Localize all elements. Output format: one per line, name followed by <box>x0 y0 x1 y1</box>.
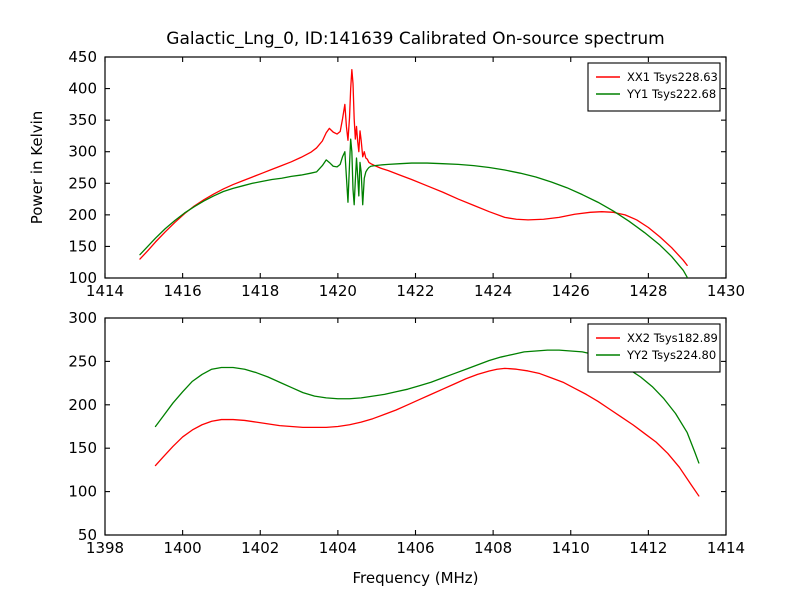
legend-label: YY1 Tsys222.68 <box>626 87 716 101</box>
y-tick-label: 250 <box>68 352 97 370</box>
y-tick-label: 250 <box>68 174 97 192</box>
bottom-spectrum-panel: 1398140014021404140614081410141214145010… <box>0 300 800 600</box>
y-tick-label: 100 <box>68 483 97 501</box>
bottom-panel-svg: 1398140014021404140614081410141214145010… <box>0 300 800 600</box>
y-tick-label: 200 <box>68 206 97 224</box>
x-tick-label: 1406 <box>396 539 434 557</box>
x-tick-label: 1418 <box>241 282 279 300</box>
x-tick-label: 1408 <box>474 539 512 557</box>
x-tick-label: 1400 <box>164 539 202 557</box>
series-line-0 <box>155 368 698 496</box>
x-tick-label: 1426 <box>552 282 590 300</box>
x-tick-label: 1428 <box>629 282 667 300</box>
x-tick-label: 1422 <box>396 282 434 300</box>
y-tick-label: 300 <box>68 143 97 161</box>
x-tick-label: 1416 <box>164 282 202 300</box>
y-tick-label: 350 <box>68 111 97 129</box>
legend-label: YY2 Tsys224.80 <box>626 348 716 362</box>
y-tick-label: 100 <box>68 269 97 287</box>
y-tick-label: 150 <box>68 439 97 457</box>
x-tick-label: 1412 <box>629 539 667 557</box>
top-spectrum-panel: Galactic_Lng_0, ID:141639 Calibrated On-… <box>0 0 800 300</box>
spectrum-figure: Galactic_Lng_0, ID:141639 Calibrated On-… <box>0 0 800 600</box>
x-tick-label: 1410 <box>552 539 590 557</box>
y-tick-label: 300 <box>68 309 97 327</box>
x-tick-label: 1424 <box>474 282 512 300</box>
x-tick-label: 1402 <box>241 539 279 557</box>
y-tick-label: 450 <box>68 48 97 66</box>
legend-label: XX1 Tsys228.63 <box>627 70 718 84</box>
x-tick-label: 1420 <box>319 282 357 300</box>
x-axis-label: Frequency (MHz) <box>352 569 478 587</box>
x-tick-label: 1404 <box>319 539 357 557</box>
legend-label: XX2 Tsys182.89 <box>627 331 718 345</box>
y-tick-label: 150 <box>68 237 97 255</box>
y-axis-label: Power in Kelvin <box>28 111 46 225</box>
top-panel-svg: Galactic_Lng_0, ID:141639 Calibrated On-… <box>0 0 800 300</box>
y-tick-label: 200 <box>68 396 97 414</box>
plot-title: Galactic_Lng_0, ID:141639 Calibrated On-… <box>166 29 664 49</box>
series-line-1 <box>140 139 687 277</box>
y-tick-label: 400 <box>68 80 97 98</box>
x-tick-label: 1414 <box>707 539 745 557</box>
y-tick-label: 50 <box>78 526 97 544</box>
x-tick-label: 1430 <box>707 282 745 300</box>
